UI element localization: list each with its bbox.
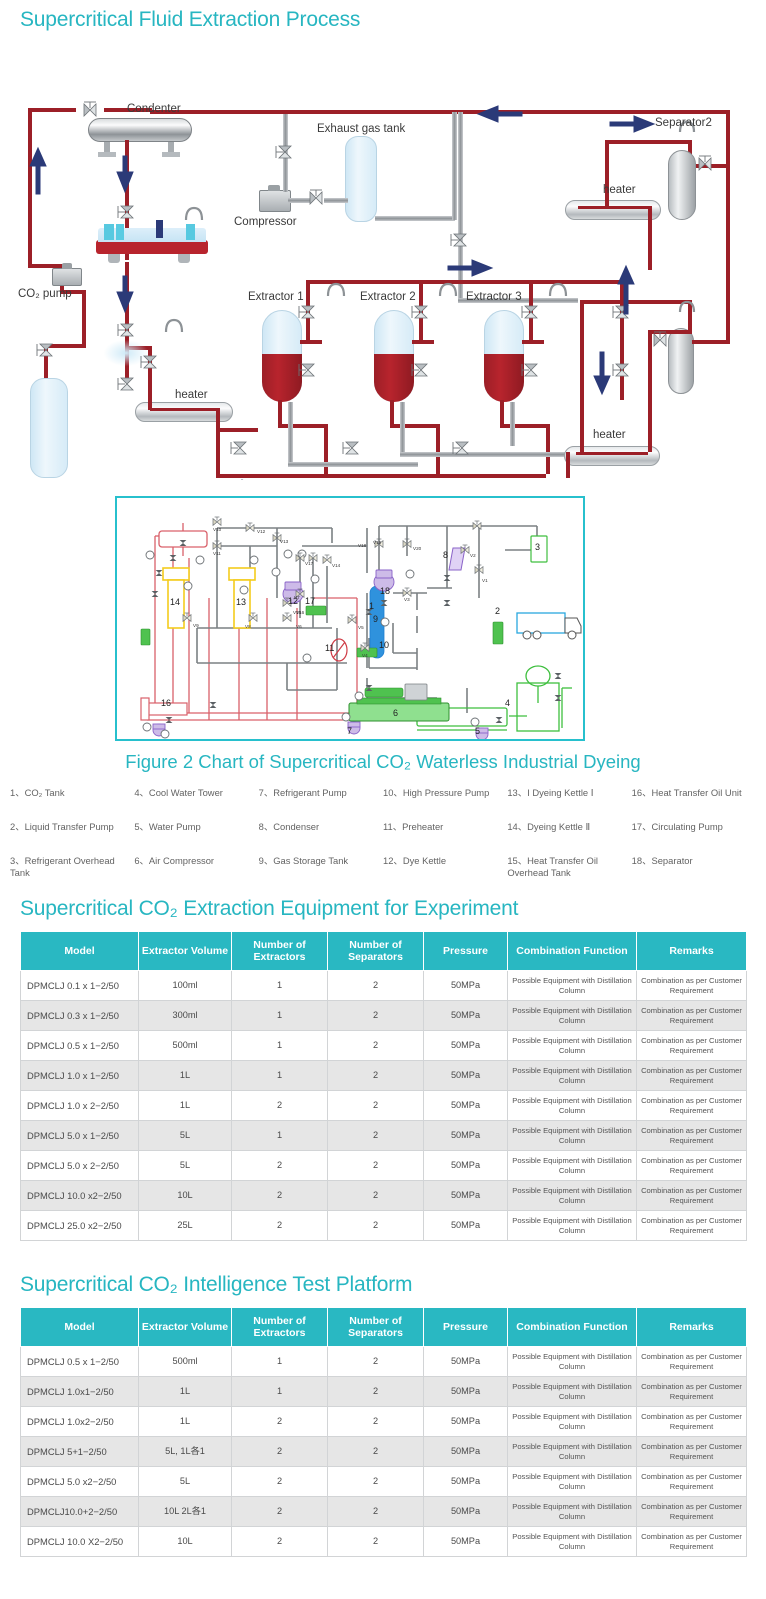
legend-number: 12、 xyxy=(383,855,403,866)
cell-separators: 2 xyxy=(328,1377,424,1407)
co2-pump xyxy=(52,268,82,286)
pipe-segment xyxy=(580,300,584,452)
cell-combination: Possible Equipment with Distillation Col… xyxy=(508,1151,637,1181)
pipe-segment xyxy=(44,344,48,380)
pipe-segment xyxy=(648,330,652,452)
pipe-segment xyxy=(522,340,544,344)
arrow-left-top xyxy=(478,106,522,122)
pipe-segment xyxy=(688,304,692,332)
column-header-combination-function: Combination Function xyxy=(508,1308,637,1347)
valve-label: V3 xyxy=(404,597,410,602)
cell-separators: 2 xyxy=(328,1001,424,1031)
figure-caption: Figure 2 Chart of Supercritical CO₂ Wate… xyxy=(0,751,766,773)
cell-separators: 2 xyxy=(328,971,424,1001)
pipe-segment xyxy=(419,280,423,342)
valve-label: V20 xyxy=(413,546,421,551)
table-row: DPMCLJ 0.1 x 1−2/50 100ml 1 2 50MPa Poss… xyxy=(21,971,747,1001)
legend-text: Water Pump xyxy=(149,821,201,832)
cell-remarks: Combination as per Customer Requirement xyxy=(637,1527,747,1557)
steam-cloud xyxy=(104,340,148,366)
equipment-number: 4 xyxy=(505,698,510,708)
cell-combination: Possible Equipment with Distillation Col… xyxy=(508,1121,637,1151)
equipment-number: 7 xyxy=(347,726,352,736)
cell-model: DPMCLJ 0.3 x 1−2/50 xyxy=(21,1001,139,1031)
valve-label: V9 xyxy=(193,623,199,628)
section-title-extraction-equipment: Supercritical CO₂ Extraction Equipment f… xyxy=(0,889,766,921)
valve-label: V11 xyxy=(213,551,221,556)
pipe-segment xyxy=(324,198,348,203)
legend-text: Heat Transfer Oil Unit xyxy=(651,787,741,798)
intelligence-platform-table: Model Extractor Volume Number of Extract… xyxy=(20,1307,747,1557)
cell-extractors: 2 xyxy=(232,1497,328,1527)
column-header-extractor-volume: Extractor Volume xyxy=(139,1308,232,1347)
plate-foot xyxy=(108,254,120,263)
spacer xyxy=(0,1557,766,1567)
legend-number: 4、 xyxy=(134,787,149,798)
legend-text: Refrigerant Pump xyxy=(273,787,346,798)
pipe-segment xyxy=(400,452,580,457)
valve-label: V4 xyxy=(362,653,368,658)
pipe-segment xyxy=(150,408,220,411)
cell-pressure: 50MPa xyxy=(424,1061,508,1091)
legend-item: 1、CO₂ Tank xyxy=(10,787,134,821)
cell-extractors: 2 xyxy=(232,1437,328,1467)
pipe-segment xyxy=(278,424,328,428)
legend-item: 15、Heat Transfer Oil Overhead Tank xyxy=(507,855,631,889)
equipment-number: 16 xyxy=(161,698,171,708)
cell-extractors: 1 xyxy=(232,1001,328,1031)
cell-model: DPMCLJ 1.0 x 2−2/50 xyxy=(21,1091,139,1121)
legend-column: 4、Cool Water Tower 5、Water Pump 6、Air Co… xyxy=(134,787,258,889)
pipe-segment xyxy=(546,424,550,474)
legend-number: 16、 xyxy=(632,787,652,798)
valve-label: V1 xyxy=(482,578,488,583)
cell-separators: 2 xyxy=(328,1181,424,1211)
outer-storage-tank xyxy=(30,378,68,478)
legend-text: Liquid Transfer Pump xyxy=(25,821,114,832)
cell-separators: 2 xyxy=(328,1031,424,1061)
column-header-extractor-volume: Extractor Volume xyxy=(139,932,232,971)
cell-remarks: Combination as per Customer Requirement xyxy=(637,1151,747,1181)
cell-pressure: 50MPa xyxy=(424,1437,508,1467)
dyeing-flow-diagram-wrap: 1 2 3 4 5 6 7 8 9 10 11 12 13 14 16 17 1… xyxy=(0,490,766,745)
valve-label: V8 xyxy=(245,624,251,629)
cell-pressure: 50MPa xyxy=(424,1031,508,1061)
cell-pressure: 50MPa xyxy=(424,1181,508,1211)
cell-combination: Possible Equipment with Distillation Col… xyxy=(508,1407,637,1437)
cell-pressure: 50MPa xyxy=(424,1527,508,1557)
pipe-segment xyxy=(400,402,405,456)
table-row: DPMCLJ 0.5 x 1−2/50 500ml 1 2 50MPa Poss… xyxy=(21,1347,747,1377)
plate-nozzle xyxy=(116,224,124,240)
valve-label: V18 xyxy=(358,543,366,548)
pipe-segment xyxy=(692,340,730,344)
legend-text: CO₂ Tank xyxy=(25,787,65,798)
pipe-segment xyxy=(580,300,692,304)
cell-volume: 500ml xyxy=(139,1031,232,1061)
table-row: DPMCLJ 5+1−2/50 5L, 1L各1 2 2 50MPa Possi… xyxy=(21,1437,747,1467)
table-row: DPMCLJ 1.0 x 2−2/50 1L 2 2 50MPa Possibl… xyxy=(21,1091,747,1121)
pipe-segment xyxy=(82,290,86,348)
equipment-number: 2 xyxy=(495,606,500,616)
legend-column: 16、Heat Transfer Oil Unit 17、Circulating… xyxy=(632,787,756,889)
cell-remarks: Combination as per Customer Requirement xyxy=(637,1407,747,1437)
legend-item: 11、Preheater xyxy=(383,821,507,855)
cell-remarks: Combination as per Customer Requirement xyxy=(637,1467,747,1497)
cell-separators: 2 xyxy=(328,1091,424,1121)
cell-combination: Possible Equipment with Distillation Col… xyxy=(508,1467,637,1497)
equipment-number: 9 xyxy=(373,614,378,624)
column-header-remarks: Remarks xyxy=(637,932,747,971)
pipe-segment xyxy=(605,140,691,144)
arrow-right-top xyxy=(610,116,654,132)
compressor-cap xyxy=(268,185,280,191)
cell-pressure: 50MPa xyxy=(424,1467,508,1497)
legend-item: 10、High Pressure Pump xyxy=(383,787,507,821)
cell-extractors: 1 xyxy=(232,1121,328,1151)
legend-text: Dye Kettle xyxy=(403,855,446,866)
cell-extractors: 2 xyxy=(232,1091,328,1121)
equipment-number: 11 xyxy=(325,643,334,653)
legend-item: 5、Water Pump xyxy=(134,821,258,855)
pipe-segment xyxy=(300,340,322,344)
table-row: DPMCLJ 0.5 x 1−2/50 500ml 1 2 50MPa Poss… xyxy=(21,1031,747,1061)
table-row: DPMCLJ10.0+2−2/50 10L 2L各1 2 2 50MPa Pos… xyxy=(21,1497,747,1527)
section-title-intelligence-platform: Supercritical CO₂ Intelligence Test Plat… xyxy=(0,1265,766,1297)
dyeing-diagram-svg xyxy=(117,498,585,741)
legend-item: 8、Condenser xyxy=(259,821,383,855)
pipe-segment xyxy=(216,428,258,432)
column-header-model: Model xyxy=(21,932,139,971)
cell-remarks: Combination as per Customer Requirement xyxy=(637,1061,747,1091)
legend-text: Refrigerant Overhead Tank xyxy=(10,855,115,878)
cell-extractors: 1 xyxy=(232,971,328,1001)
cell-volume: 1L xyxy=(139,1377,232,1407)
equipment-number: 5 xyxy=(475,726,480,736)
column-header-pressure: Pressure xyxy=(424,932,508,971)
legend-item: 6、Air Compressor xyxy=(134,855,258,889)
legend-number: 5、 xyxy=(134,821,149,832)
pipe-segment xyxy=(500,424,550,428)
pipe-segment xyxy=(216,428,220,476)
cell-volume: 10L 2L各1 xyxy=(139,1497,232,1527)
table-row: DPMCLJ 5.0 x 2−2/50 5L 2 2 50MPa Possibl… xyxy=(21,1151,747,1181)
pipe-segment xyxy=(510,402,515,446)
legend-text: Condenser xyxy=(273,821,319,832)
equipment-number: 17 xyxy=(305,596,315,606)
cell-model: DPMCLJ 5.0 x 2−2/50 xyxy=(21,1151,139,1181)
pipe-segment xyxy=(726,270,730,344)
plate-foot xyxy=(178,254,190,263)
pipe-header-bottom xyxy=(216,474,546,478)
table-row: DPMCLJ 1.0 x 1−2/50 1L 1 2 50MPa Possibl… xyxy=(21,1061,747,1091)
legend-text: Separator xyxy=(651,855,692,866)
column-header-number-of-separators: Number of Separators xyxy=(328,1308,424,1347)
column-header-remarks: Remarks xyxy=(637,1308,747,1347)
valve-label: V10 xyxy=(213,527,221,532)
page-root: Supercritical Fluid Extraction Process xyxy=(0,0,766,1567)
valve-label: V14 xyxy=(332,563,340,568)
diagram1-label: Compressor xyxy=(234,216,297,228)
equipment-number: 10 xyxy=(379,640,389,650)
legend-number: 1、 xyxy=(10,787,25,798)
equipment-legend: 1、CO₂ Tank 2、Liquid Transfer Pump 3、Refr… xyxy=(0,787,766,889)
cell-volume: 10L xyxy=(139,1181,232,1211)
condenser-foot xyxy=(98,152,116,157)
diagram1-label: Separator2 xyxy=(655,117,712,129)
diagram1-label: heater xyxy=(175,389,208,401)
table-header-row: Model Extractor Volume Number of Extract… xyxy=(21,932,747,971)
cell-combination: Possible Equipment with Distillation Col… xyxy=(508,1031,637,1061)
cell-pressure: 50MPa xyxy=(424,1091,508,1121)
equipment-number: 8 xyxy=(443,550,448,560)
cell-separators: 2 xyxy=(328,1437,424,1467)
equipment-number: 3 xyxy=(535,542,540,552)
cell-model: DPMCLJ10.0+2−2/50 xyxy=(21,1497,139,1527)
pipe-segment xyxy=(148,380,152,410)
legend-item: 12、Dye Kettle xyxy=(383,855,507,889)
extractor-1-fill xyxy=(262,354,302,402)
legend-number: 11、 xyxy=(383,821,402,832)
cell-volume: 5L xyxy=(139,1467,232,1497)
cell-extractors: 2 xyxy=(232,1211,328,1241)
legend-text: Dyeing Kettle Ⅱ xyxy=(527,821,590,832)
cell-combination: Possible Equipment with Distillation Col… xyxy=(508,1061,637,1091)
cell-separators: 2 xyxy=(328,1061,424,1091)
plate-indicator xyxy=(156,220,163,238)
cell-model: DPMCLJ 25.0 x2−2/50 xyxy=(21,1211,139,1241)
table-row: DPMCLJ 25.0 x2−2/50 25L 2 2 50MPa Possib… xyxy=(21,1211,747,1241)
cell-combination: Possible Equipment with Distillation Col… xyxy=(508,1527,637,1557)
cell-extractors: 2 xyxy=(232,1181,328,1211)
pipe-segment xyxy=(726,110,730,270)
cell-remarks: Combination as per Customer Requirement xyxy=(637,1181,747,1211)
equipment-number: 1 xyxy=(369,601,374,611)
extractor-3-fill xyxy=(484,354,524,402)
separator-plate xyxy=(96,240,208,254)
cell-pressure: 50MPa xyxy=(424,1347,508,1377)
cell-model: DPMCLJ 10.0 x2−2/50 xyxy=(21,1181,139,1211)
legend-text: Cool Water Tower xyxy=(149,787,223,798)
cell-separators: 2 xyxy=(328,1211,424,1241)
cell-remarks: Combination as per Customer Requirement xyxy=(637,1121,747,1151)
table-row: DPMCLJ 5.0 x2−2/50 5L 2 2 50MPa Possible… xyxy=(21,1467,747,1497)
condenser-vessel xyxy=(88,118,192,142)
arrow-down-right xyxy=(594,352,610,394)
cell-model: DPMCLJ 5.0 x2−2/50 xyxy=(21,1467,139,1497)
equipment-number: 14 xyxy=(170,597,180,607)
pipe-segment xyxy=(148,346,152,384)
cell-separators: 2 xyxy=(328,1527,424,1557)
plate-nozzle xyxy=(186,224,195,240)
legend-column: 13、I Dyeing Kettle Ⅰ 14、Dyeing Kettle Ⅱ … xyxy=(507,787,631,889)
cell-remarks: Combination as per Customer Requirement xyxy=(637,1437,747,1467)
cell-separators: 2 xyxy=(328,1497,424,1527)
cell-extractors: 2 xyxy=(232,1151,328,1181)
legend-text: High Pressure Pump xyxy=(403,787,490,798)
legend-item: 9、Gas Storage Tank xyxy=(259,855,383,889)
cell-separators: 2 xyxy=(328,1151,424,1181)
cell-volume: 1L xyxy=(139,1091,232,1121)
cell-model: DPMCLJ 1.0x2−2/50 xyxy=(21,1407,139,1437)
cell-model: DPMCLJ 10.0 X2−2/50 xyxy=(21,1527,139,1557)
pipe-segment xyxy=(578,206,650,209)
table-row: DPMCLJ 1.0x2−2/50 1L 2 2 50MPa Possible … xyxy=(21,1407,747,1437)
cell-remarks: Combination as per Customer Requirement xyxy=(637,1001,747,1031)
pipe-segment xyxy=(288,462,418,467)
pipe-segment xyxy=(458,112,463,300)
cell-combination: Possible Equipment with Distillation Col… xyxy=(508,1211,637,1241)
legend-text: Preheater xyxy=(402,821,443,832)
cell-extractors: 2 xyxy=(232,1407,328,1437)
cell-volume: 100ml xyxy=(139,971,232,1001)
cell-model: DPMCLJ 1.0 x 1−2/50 xyxy=(21,1061,139,1091)
pipe-segment xyxy=(452,112,457,220)
pipe-segment xyxy=(44,344,86,348)
legend-number: 3、 xyxy=(10,855,25,866)
cell-separators: 2 xyxy=(328,1467,424,1497)
pipe-segment xyxy=(648,206,652,270)
cell-volume: 25L xyxy=(139,1211,232,1241)
legend-number: 8、 xyxy=(259,821,274,832)
valve-label: V16 xyxy=(296,610,304,615)
pipe-segment xyxy=(412,340,434,344)
legend-item: 4、Cool Water Tower xyxy=(134,787,258,821)
pipe-segment xyxy=(288,402,293,466)
legend-text: I Dyeing Kettle Ⅰ xyxy=(527,787,593,798)
cell-combination: Possible Equipment with Distillation Col… xyxy=(508,1497,637,1527)
diagram1-label: heater xyxy=(603,184,636,196)
cell-separators: 2 xyxy=(328,1121,424,1151)
pipe-segment xyxy=(390,424,440,428)
cell-model: DPMCLJ 1.0x1−2/50 xyxy=(21,1377,139,1407)
legend-item: 2、Liquid Transfer Pump xyxy=(10,821,134,855)
pipe-segment xyxy=(576,452,648,455)
separator1-vessel xyxy=(668,328,694,394)
arrow-right-mid xyxy=(448,260,492,276)
cell-remarks: Combination as per Customer Requirement xyxy=(637,1497,747,1527)
cell-combination: Possible Equipment with Distillation Col… xyxy=(508,1091,637,1121)
extractor-3 xyxy=(484,310,524,402)
column-header-number-of-extractors: Number of Extractors xyxy=(232,1308,328,1347)
legend-number: 17、 xyxy=(632,821,652,832)
process-flow-diagram: Condenter Exhaust gas tank Compressor Se… xyxy=(0,40,766,480)
cell-volume: 300ml xyxy=(139,1001,232,1031)
cell-extractors: 2 xyxy=(232,1467,328,1497)
legend-number: 6、 xyxy=(134,855,149,866)
pipe-segment xyxy=(306,280,624,284)
legend-item: 14、Dyeing Kettle Ⅱ xyxy=(507,821,631,855)
legend-item: 16、Heat Transfer Oil Unit xyxy=(632,787,756,821)
legend-item: 13、I Dyeing Kettle Ⅰ xyxy=(507,787,631,821)
table-row: DPMCLJ 10.0 X2−2/50 10L 2 2 50MPa Possib… xyxy=(21,1527,747,1557)
pipe-segment xyxy=(28,108,32,268)
table-row: DPMCLJ 1.0x1−2/50 1L 1 2 50MPa Possible … xyxy=(21,1377,747,1407)
cell-pressure: 50MPa xyxy=(424,1001,508,1031)
cell-remarks: Combination as per Customer Requirement xyxy=(637,1347,747,1377)
legend-item: 18、Separator xyxy=(632,855,756,889)
valve-label: V7 xyxy=(294,595,300,600)
pipe-segment xyxy=(566,452,570,478)
legend-item: 3、Refrigerant Overhead Tank xyxy=(10,855,134,889)
pipe-segment xyxy=(529,280,533,342)
column-header-combination-function: Combination Function xyxy=(508,932,637,971)
cell-extractors: 1 xyxy=(232,1347,328,1377)
extractor-1 xyxy=(262,310,302,402)
cell-combination: Possible Equipment with Distillation Col… xyxy=(508,1377,637,1407)
cell-pressure: 50MPa xyxy=(424,1151,508,1181)
cell-extractors: 1 xyxy=(232,1377,328,1407)
legend-column: 10、High Pressure Pump 11、Preheater 12、Dy… xyxy=(383,787,507,889)
pipe-segment xyxy=(648,330,692,334)
cell-pressure: 50MPa xyxy=(424,1407,508,1437)
equipment-number: 6 xyxy=(393,708,398,718)
diagram1-label: Exhaust gas tank xyxy=(317,123,405,135)
pipe-segment xyxy=(620,280,624,400)
valve-label: V12 xyxy=(257,529,265,534)
cell-volume: 5L xyxy=(139,1151,232,1181)
valve-label: V17 xyxy=(305,561,313,566)
cell-remarks: Combination as per Customer Requirement xyxy=(637,971,747,1001)
pipe-segment xyxy=(375,216,455,221)
condenser-foot xyxy=(162,152,180,157)
legend-column: 1、CO₂ Tank 2、Liquid Transfer Pump 3、Refr… xyxy=(10,787,134,889)
diagram1-label: Condenter xyxy=(127,103,181,115)
heater-right-bottom xyxy=(564,446,660,466)
extractor-2-fill xyxy=(374,354,414,402)
page-title: Supercritical Fluid Extraction Process xyxy=(0,0,766,32)
cell-volume: 5L xyxy=(139,1121,232,1151)
pipe-header-top xyxy=(150,110,730,114)
cell-model: DPMCLJ 0.5 x 1−2/50 xyxy=(21,1347,139,1377)
cell-extractors: 1 xyxy=(232,1061,328,1091)
legend-number: 18、 xyxy=(632,855,652,866)
compressor xyxy=(259,190,291,212)
cell-extractors: 2 xyxy=(232,1527,328,1557)
cell-combination: Possible Equipment with Distillation Col… xyxy=(508,1181,637,1211)
legend-column: 7、Refrigerant Pump 8、Condenser 9、Gas Sto… xyxy=(259,787,383,889)
extractor-2 xyxy=(374,310,414,402)
spacer xyxy=(0,1241,766,1265)
legend-number: 10、 xyxy=(383,787,403,798)
cell-model: DPMCLJ 5+1−2/50 xyxy=(21,1437,139,1467)
cell-separators: 2 xyxy=(328,1407,424,1437)
legend-number: 14、 xyxy=(507,821,527,832)
pipe-segment xyxy=(692,164,730,168)
table-row: DPMCLJ 5.0 x 1−2/50 5L 1 2 50MPa Possibl… xyxy=(21,1121,747,1151)
cell-volume: 1L xyxy=(139,1407,232,1437)
pipe-segment xyxy=(28,108,76,112)
legend-number: 15、 xyxy=(507,855,527,866)
plate-nozzle xyxy=(104,224,114,240)
diagram1-label: Extractor 1 xyxy=(248,291,304,303)
cell-pressure: 50MPa xyxy=(424,971,508,1001)
cell-volume: 10L xyxy=(139,1527,232,1557)
valve-label: V2 xyxy=(470,553,476,558)
cell-volume: 1L xyxy=(139,1061,232,1091)
cell-separators: 2 xyxy=(328,1347,424,1377)
table-row: DPMCLJ 10.0 x2−2/50 10L 2 2 50MPa Possib… xyxy=(21,1181,747,1211)
table-row: DPMCLJ 0.3 x 1−2/50 300ml 1 2 50MPa Poss… xyxy=(21,1001,747,1031)
legend-text: Gas Storage Tank xyxy=(273,855,348,866)
legend-item: 17、Circulating Pump xyxy=(632,821,756,855)
dyeing-flow-diagram: 1 2 3 4 5 6 7 8 9 10 11 12 13 14 16 17 1… xyxy=(115,496,585,741)
column-header-number-of-extractors: Number of Extractors xyxy=(232,932,328,971)
co2-pump-cap xyxy=(62,263,72,269)
cell-pressure: 50MPa xyxy=(424,1121,508,1151)
table-header-row: Model Extractor Volume Number of Extract… xyxy=(21,1308,747,1347)
cell-combination: Possible Equipment with Distillation Col… xyxy=(508,1437,637,1467)
